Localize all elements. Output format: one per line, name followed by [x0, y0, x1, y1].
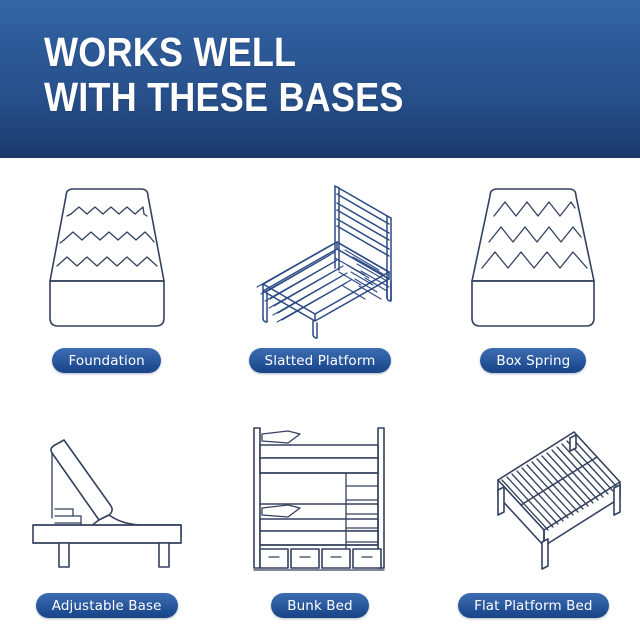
base-label-adjustable-base: Adjustable Base: [36, 593, 178, 618]
base-label-flat-platform-bed: Flat Platform Bed: [458, 593, 608, 618]
slatted-platform-bed-icon: [222, 166, 418, 346]
base-card-bunk-bed[interactable]: Bunk Bed: [213, 399, 426, 640]
base-label-slatted-platform: Slatted Platform: [249, 348, 392, 373]
base-label-box-spring: Box Spring: [480, 348, 586, 373]
page-title: WORKS WELL WITH THESE BASES: [44, 30, 404, 120]
base-card-box-spring[interactable]: Box Spring: [427, 158, 640, 399]
foundation-mattress-icon: [9, 166, 205, 346]
base-card-flat-platform-bed[interactable]: Flat Platform Bed: [427, 399, 640, 640]
base-card-slatted-platform[interactable]: Slatted Platform: [213, 158, 426, 399]
base-card-foundation[interactable]: Foundation: [0, 158, 213, 399]
header-banner: WORKS WELL WITH THESE BASES: [0, 0, 640, 158]
base-label-foundation: Foundation: [52, 348, 160, 373]
bunk-bed-icon: [222, 409, 418, 589]
adjustable-base-icon: [9, 409, 205, 589]
works-well-with-these-bases-infographic: WORKS WELL WITH THESE BASES: [0, 0, 640, 640]
box-spring-icon: [435, 166, 631, 346]
flat-platform-bed-icon: [435, 409, 631, 589]
base-card-adjustable-base[interactable]: Adjustable Base: [0, 399, 213, 640]
base-label-bunk-bed: Bunk Bed: [271, 593, 368, 618]
bases-grid: Foundation: [0, 158, 640, 640]
